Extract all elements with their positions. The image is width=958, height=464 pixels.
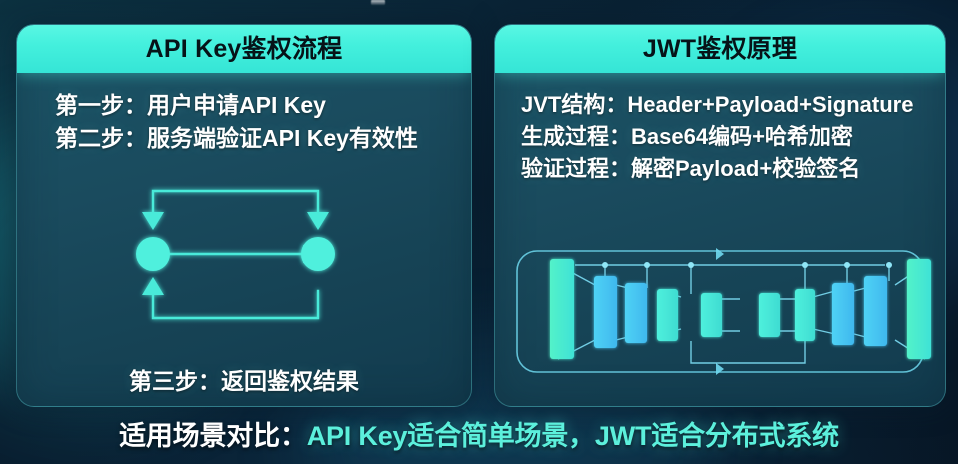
jwt-network-diagram — [495, 241, 945, 391]
footer-label: 适用场景对比： — [119, 421, 307, 451]
api-key-flow-diagram — [17, 181, 471, 331]
api-key-step-2: 第二步：服务端验证API Key有效性 — [55, 122, 453, 155]
footer-value: API Key适合简单场景，JWT适合分布式系统 — [307, 421, 839, 451]
card-api-key-title: API Key鉴权流程 — [146, 37, 343, 62]
bar-3 — [625, 283, 647, 343]
flow-graph-svg — [17, 181, 471, 331]
arrowhead-down-right — [307, 212, 329, 230]
footer-comparison: 适用场景对比：API Key适合简单场景，JWT适合分布式系统 — [0, 414, 958, 453]
bar-7 — [795, 289, 815, 341]
bar-9 — [864, 276, 887, 346]
network-bars — [550, 259, 931, 359]
clipped-caption-sliver — [371, 0, 385, 5]
frame-marker-top — [716, 248, 724, 260]
bar-6 — [759, 293, 780, 337]
card-api-key-body: 第一步：用户申请API Key 第二步：服务端验证API Key有效性 — [17, 73, 471, 407]
network-bars-svg — [495, 241, 945, 391]
frame-marker-bottom — [716, 363, 724, 375]
card-jwt-title: JWT鉴权原理 — [643, 37, 797, 62]
card-jwt-body: JVT结构：Header+Payload+Signature 生成过程：Base… — [495, 73, 945, 407]
bar-8 — [832, 283, 854, 345]
api-key-step-1: 第一步：用户申请API Key — [55, 89, 453, 122]
slide-canvas: API Key鉴权流程 第一步：用户申请API Key 第二步：服务端验证API… — [0, 0, 958, 464]
top-feedback-path — [153, 191, 318, 215]
jwt-step-2: 生成过程：Base64编码+哈希加密 — [521, 121, 927, 153]
bar-1 — [550, 259, 574, 359]
bar-2 — [594, 276, 617, 348]
bar-4 — [657, 289, 678, 341]
jwt-step-1: JVT结构：Header+Payload+Signature — [521, 89, 927, 121]
server-node — [301, 237, 335, 271]
bottom-return-path — [153, 291, 318, 318]
bar-5 — [701, 293, 722, 337]
card-jwt-header: JWT鉴权原理 — [495, 25, 945, 73]
client-node — [136, 237, 170, 271]
card-api-key-header: API Key鉴权流程 — [17, 25, 471, 73]
api-key-step-list: 第一步：用户申请API Key 第二步：服务端验证API Key有效性 — [17, 89, 471, 154]
card-api-key[interactable]: API Key鉴权流程 第一步：用户申请API Key 第二步：服务端验证API… — [16, 24, 472, 407]
jwt-step-3: 验证过程：解密Payload+校验签名 — [521, 153, 927, 185]
arrowhead-down-left — [142, 212, 164, 230]
bar-10 — [907, 259, 931, 359]
card-jwt[interactable]: JWT鉴权原理 JVT结构：Header+Payload+Signature 生… — [494, 24, 946, 407]
jwt-step-list: JVT结构：Header+Payload+Signature 生成过程：Base… — [495, 89, 945, 185]
api-key-flow-caption: 第三步：返回鉴权结果 — [17, 362, 471, 396]
arrowhead-up-left — [142, 277, 164, 295]
